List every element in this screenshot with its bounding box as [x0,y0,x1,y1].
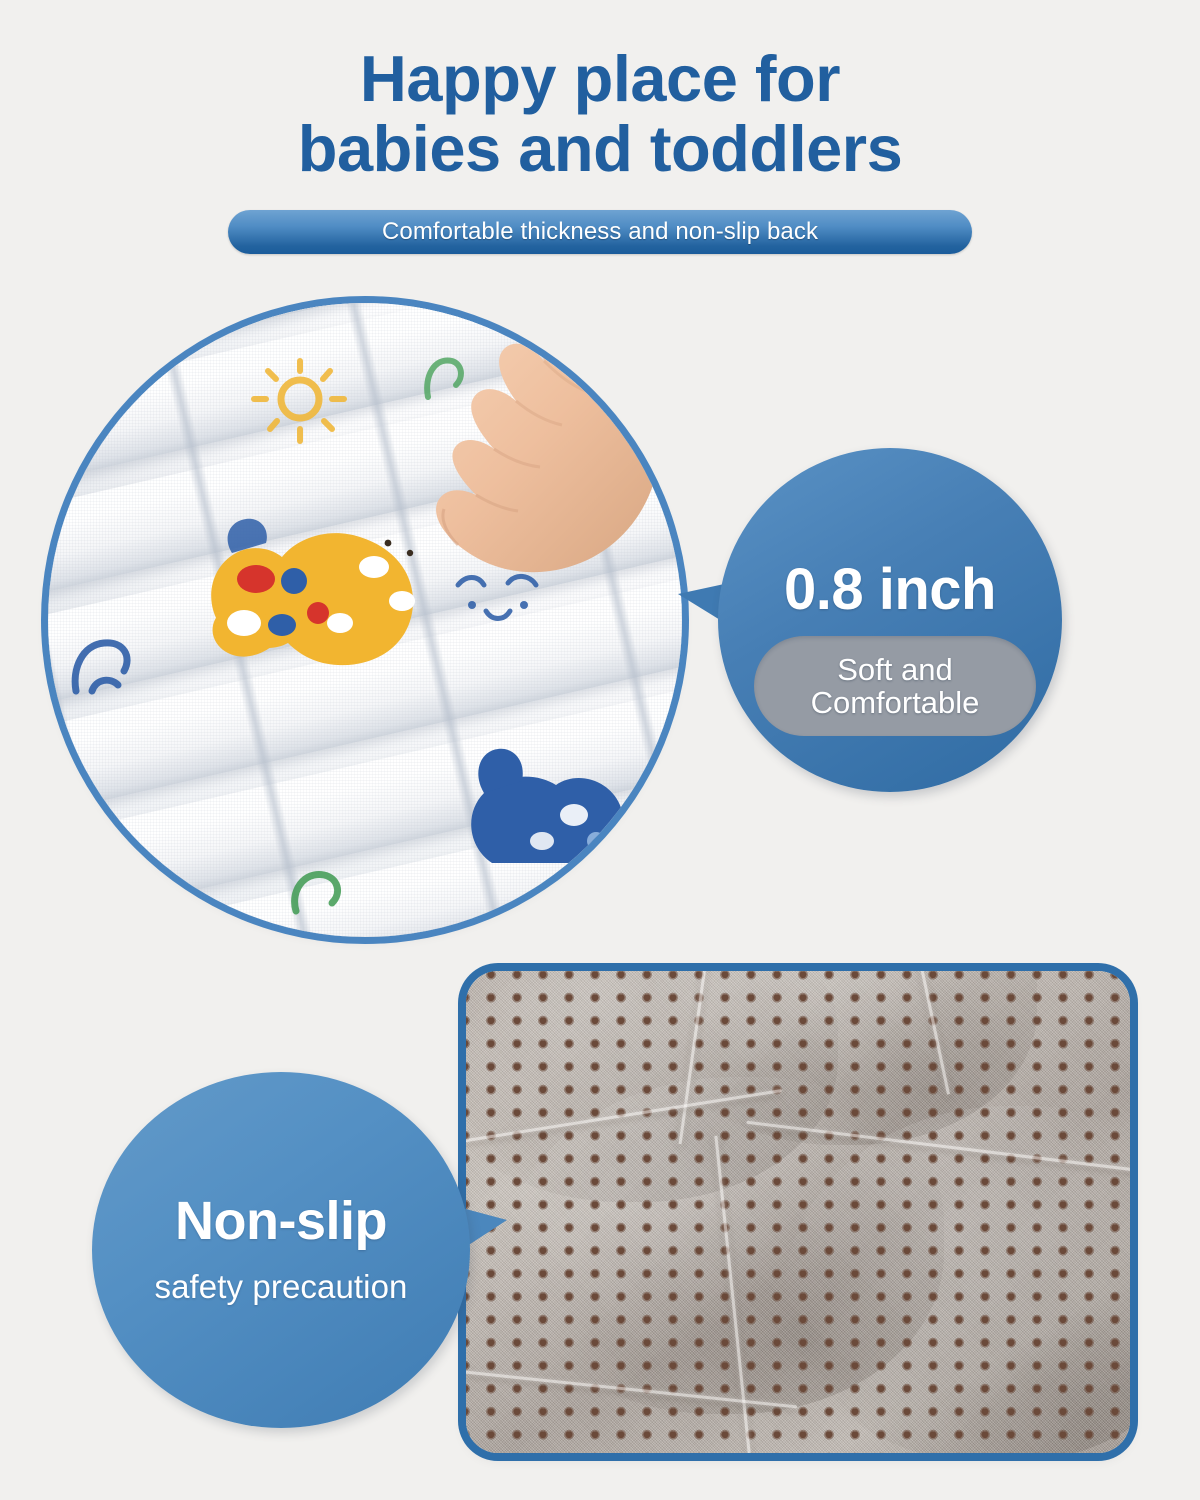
subtitle-banner-label: Comfortable thickness and non-slip back [382,218,818,246]
soft-comfortable-pill: Soft and Comfortable [754,636,1036,736]
hand-pressing-mattress-photo [48,303,682,937]
nonslip-subtitle: safety precaution [92,1268,470,1306]
soft-comfortable-line-2: Comfortable [811,686,980,719]
soft-comfortable-line-1: Soft and [837,653,952,686]
thickness-callout-bubble: 0.8 inch Soft and Comfortable [678,448,1062,792]
headline-line-2: babies and toddlers [0,114,1200,184]
green-doodle-print-icon [286,863,348,921]
page-title: Happy place for babies and toddlers [0,44,1200,184]
hand-pressing-icon [336,303,676,673]
nonslip-callout-bubble: Non-slip safety precaution [92,1072,592,1428]
blue-doodle-print-icon [66,633,138,703]
blue-animal-print-icon [446,723,636,883]
nonslip-title: Non-slip [92,1190,470,1252]
product-infographic: Happy place for babies and toddlers Comf… [0,0,1200,1500]
headline-line-1: Happy place for [0,44,1200,114]
thickness-value: 0.8 inch [718,556,1062,623]
subtitle-banner: Comfortable thickness and non-slip back [228,210,972,254]
